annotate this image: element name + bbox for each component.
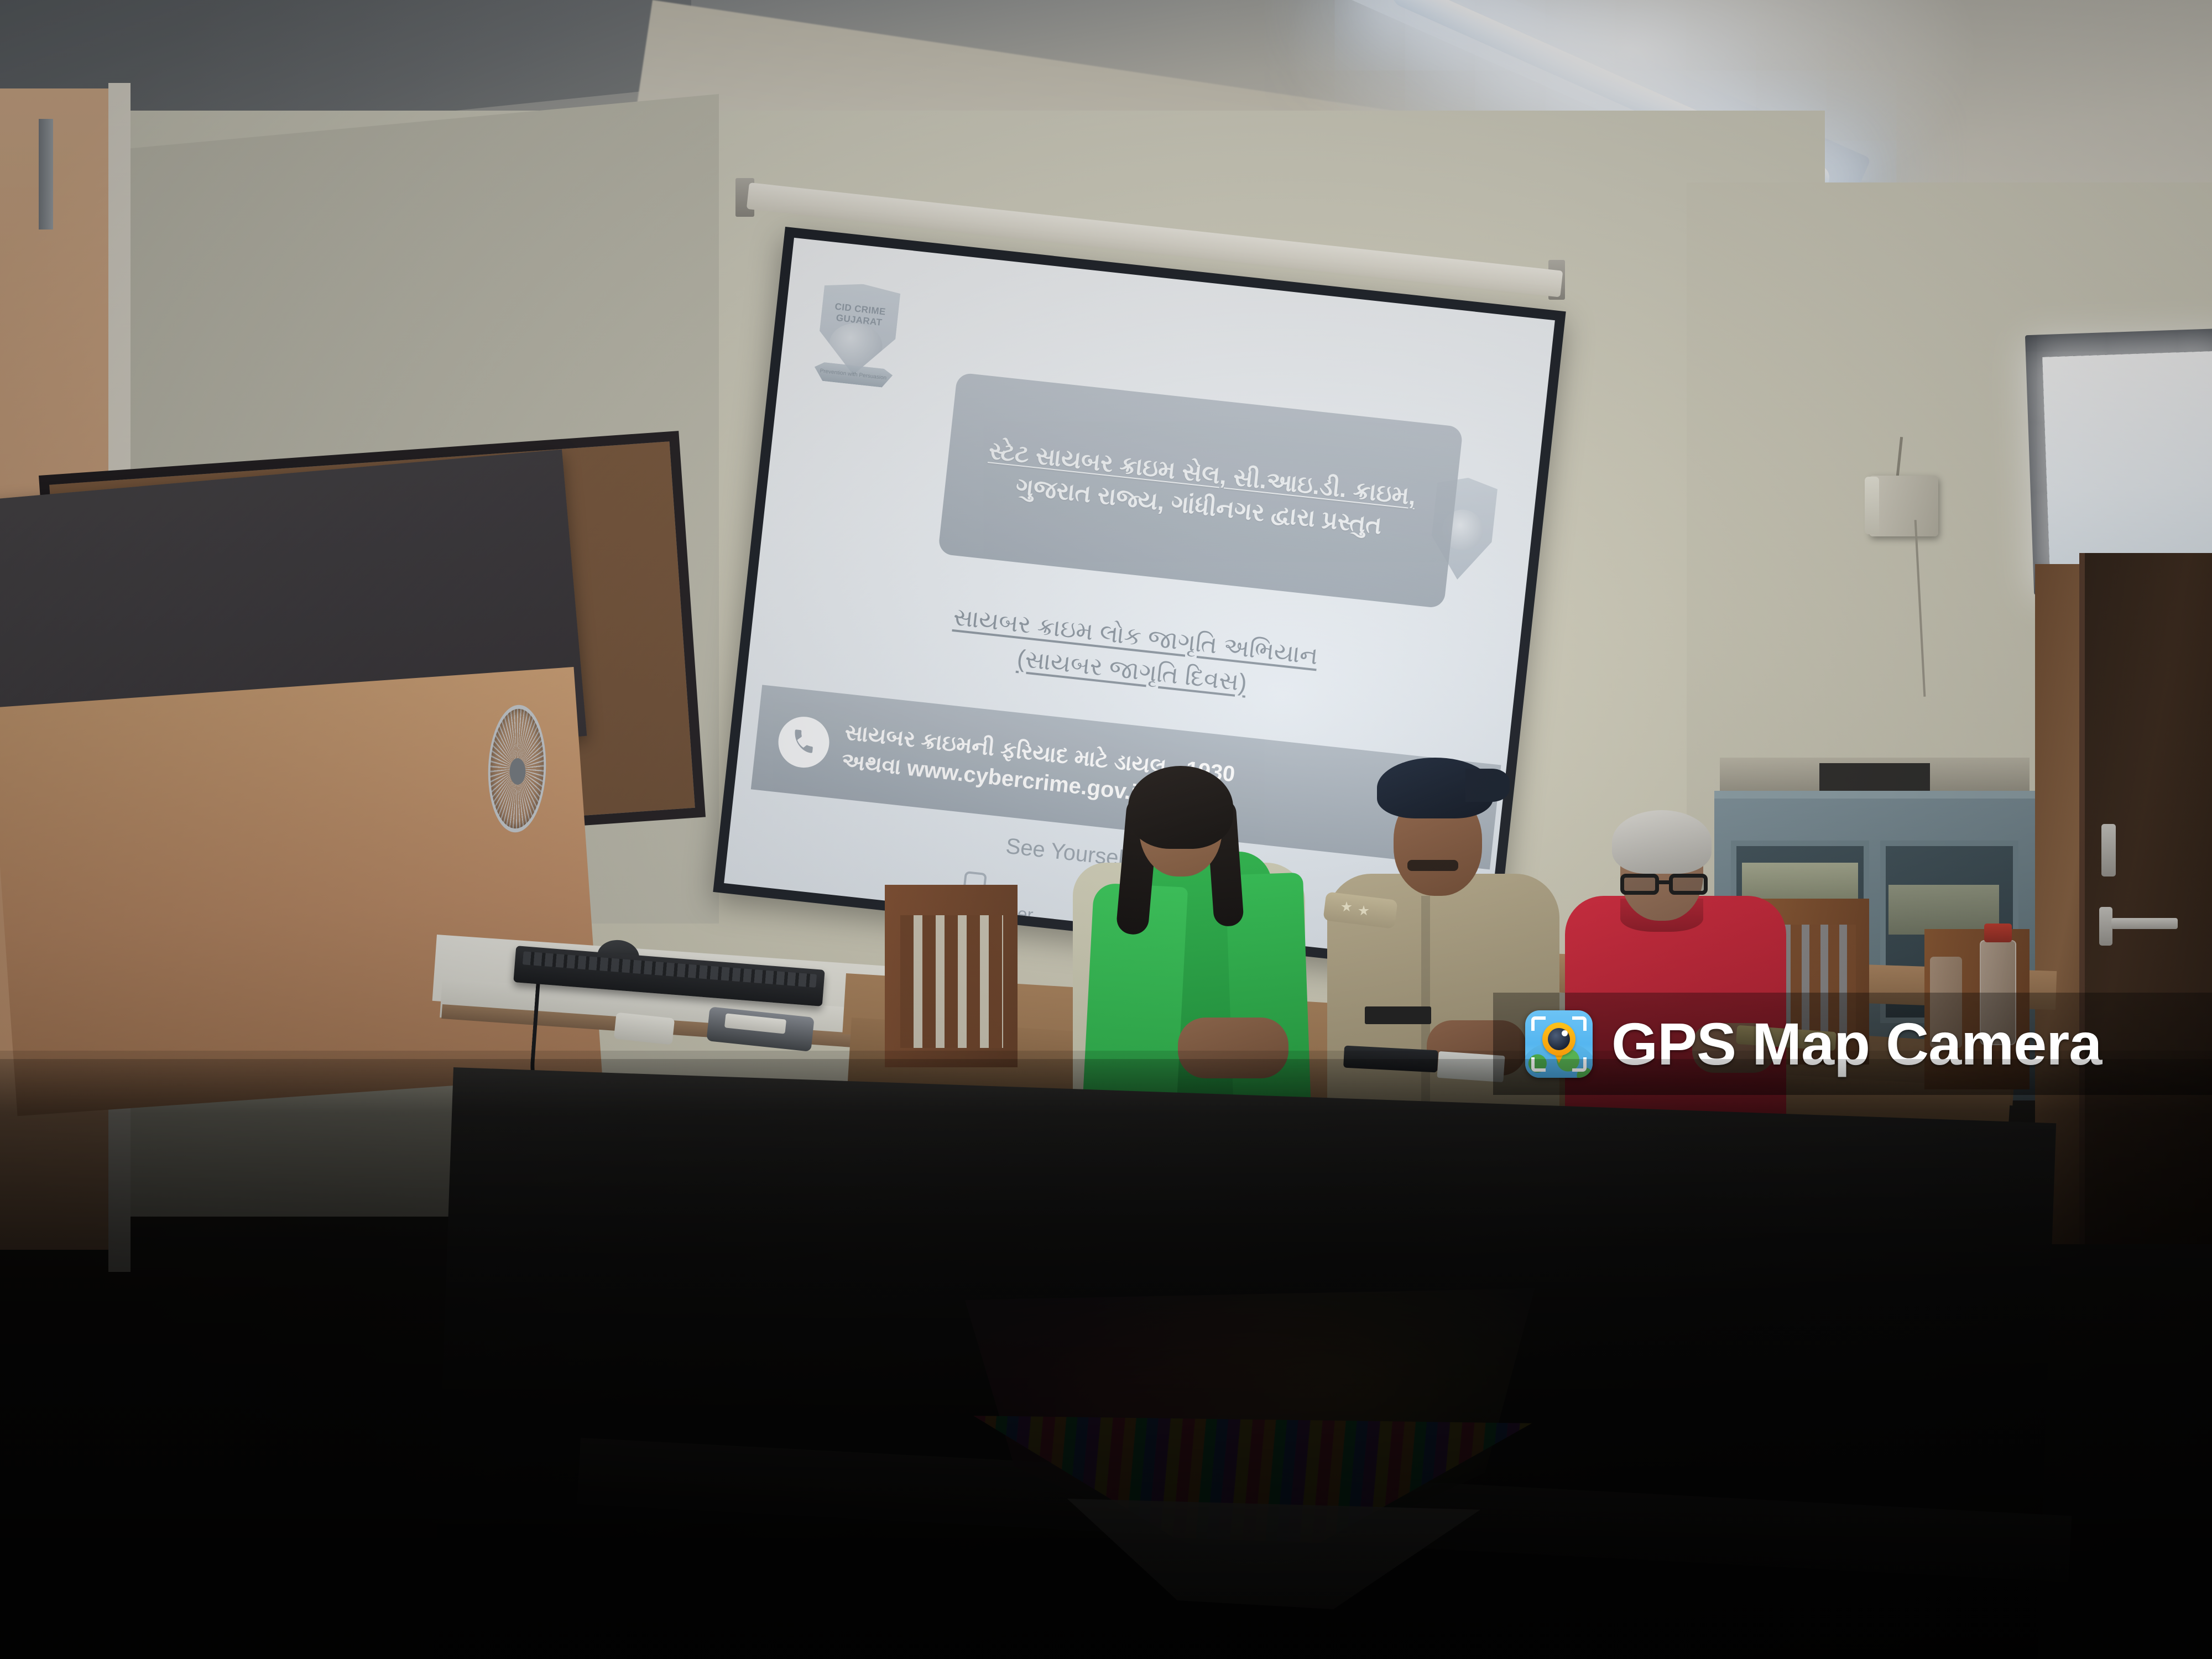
phone-icon [776, 714, 832, 770]
man-grey-hair [1612, 810, 1712, 874]
chair-back-slats [900, 915, 1003, 1048]
fan-hub [510, 758, 526, 785]
officer-mustache [1407, 860, 1458, 871]
gps-info-panel: Google Ahmedabad, Gujarat, India K. K. S… [0, 1059, 2212, 1659]
door-latch-upper [2101, 824, 2116, 877]
door-bolt [2111, 918, 2178, 929]
bottle-cap [1984, 924, 2012, 942]
wall-speaker-side [1865, 477, 1879, 534]
window-glass [2042, 351, 2212, 578]
fan-stand [39, 119, 53, 229]
cid-crime-crest: CID CRIME GUJARAT Prevention with Persua… [810, 280, 904, 396]
officer-beret-flap [1465, 769, 1510, 802]
officer-name-badge [1365, 1006, 1431, 1024]
cupboard-top-box [1819, 763, 1930, 794]
slide-title-band: સ્ટેટ સાયબર ક્રાઇમ સેલ, સી.આઇ.ડી. ક્રાઇમ… [938, 372, 1463, 608]
focus-bracket-top-left-icon [1531, 1016, 1546, 1031]
focus-bracket-top-right-icon [1572, 1016, 1587, 1031]
spectacle-lens-right [1669, 874, 1708, 895]
spectacles-icon [1620, 874, 1712, 895]
woman-hair [1128, 766, 1233, 849]
spectacle-lens-left [1620, 874, 1659, 895]
photo-canvas: CID CRIME GUJARAT Prevention with Persua… [0, 0, 2212, 1659]
cupboard-contents [1888, 885, 1999, 935]
lens-highlight [1562, 1030, 1568, 1036]
wall-speaker [1869, 476, 1938, 536]
door-latch-lower [2099, 907, 2112, 946]
table-fan [465, 705, 570, 832]
crest-globe-icon [827, 321, 885, 369]
